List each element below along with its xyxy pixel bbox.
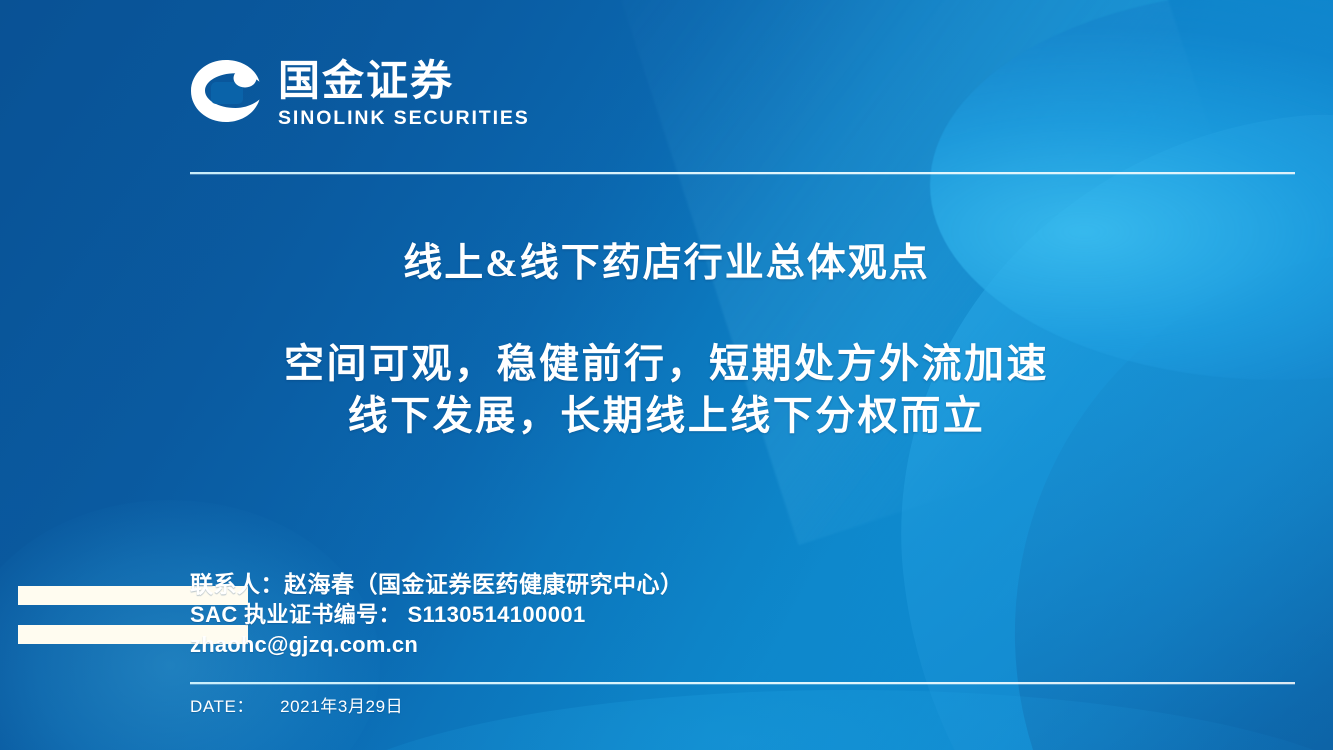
- date-value: 2021年3月29日: [280, 692, 403, 717]
- company-logo: 国金证券 SINOLINK SECURITIES: [188, 58, 530, 129]
- footer-divider: [190, 682, 1295, 684]
- date-label: DATE：: [190, 692, 254, 717]
- contact-email[interactable]: zhaohc@gjzq.com.cn: [190, 630, 684, 660]
- presentation-cover-slide: 国金证券 SINOLINK SECURITIES 线上&线下药店行业总体观点 空…: [0, 0, 1333, 750]
- logo-wordmark: 国金证券 SINOLINK SECURITIES: [278, 58, 530, 129]
- date-block: DATE： 2021年3月29日: [190, 692, 403, 717]
- logo-english-name: SINOLINK SECURITIES: [278, 107, 530, 129]
- sinolink-logo-mark-icon: [188, 58, 264, 124]
- logo-chinese-name: 国金证券: [278, 60, 530, 104]
- contact-block: 联系人：赵海春（国金证券医药健康研究中心） SAC 执业证书编号： S11305…: [190, 570, 684, 660]
- contact-sac-number: SAC 执业证书编号： S1130514100001: [190, 600, 684, 630]
- header-divider: [190, 172, 1295, 174]
- contact-analyst: 联系人：赵海春（国金证券医药健康研究中心）: [190, 570, 684, 600]
